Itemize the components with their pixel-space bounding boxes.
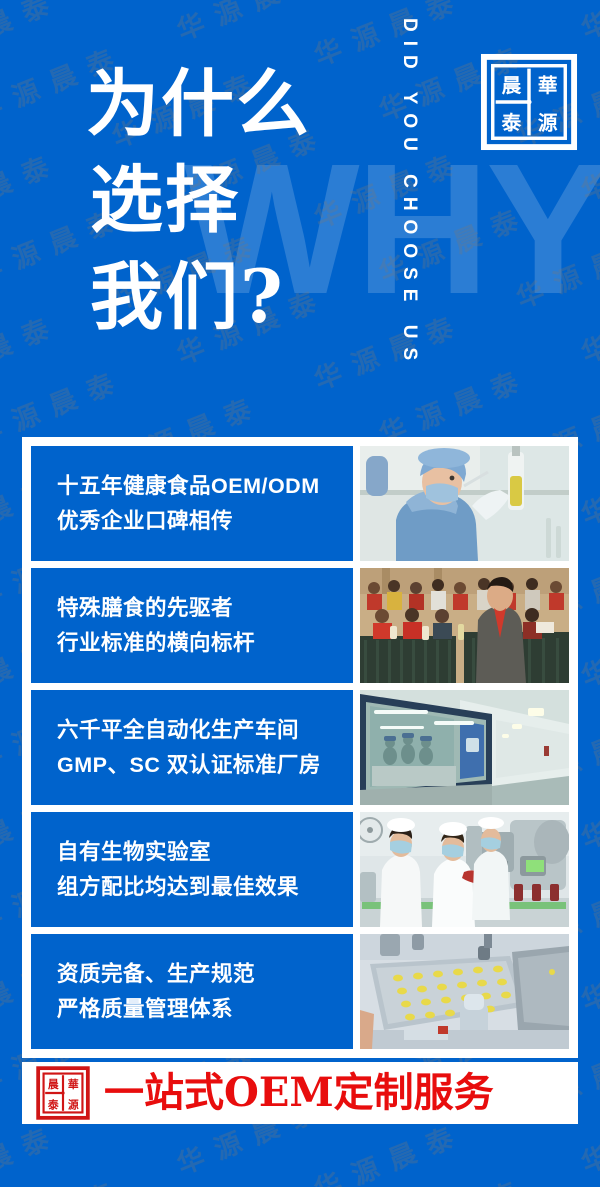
photo-image	[360, 812, 569, 927]
feature-text-card: 六千平全自动化生产车间GMP、SC 双认证标准厂房	[31, 690, 353, 805]
headline-line-3: 我们?	[86, 249, 386, 345]
svg-text:華: 華	[538, 74, 558, 97]
watermark-text: 华源晨泰	[575, 437, 600, 533]
feature-text-line-1: 十五年健康食品OEM/ODM	[57, 469, 353, 504]
svg-text:源: 源	[68, 1098, 79, 1112]
banner-slogan: 一站式OEM定制服务	[104, 1073, 494, 1113]
blister-packing-photo	[360, 934, 569, 1049]
photo-image	[360, 690, 569, 805]
packaging-line-photo	[360, 812, 569, 927]
poster-root: WHY 华源晨泰华源晨泰华源晨泰华源晨泰华源晨泰华源晨泰华源晨泰华源晨泰华源晨泰…	[0, 0, 600, 1187]
watermark-text: 华源晨泰	[575, 923, 600, 1019]
watermark-text: 华源晨泰	[575, 1085, 600, 1181]
watermark-text: 华源晨泰	[575, 761, 600, 857]
svg-text:華: 華	[68, 1077, 79, 1091]
feature-text-line-1: 六千平全自动化生产车间	[57, 713, 353, 748]
company-seal-logo-bottom: 晨 華 泰 源	[36, 1066, 90, 1120]
photo-image	[360, 568, 569, 683]
feature-text-line-2: 行业标准的横向标杆	[57, 626, 353, 661]
features-list: 十五年健康食品OEM/ODM优秀企业口碑相传 特殊膳食的先驱者行业标准的横向标杆	[31, 446, 569, 1049]
vertical-english-text: DID YOU CHOOSE US	[398, 18, 420, 369]
feature-text-card: 自有生物实验室组方配比均达到最佳效果	[31, 812, 353, 927]
photo-image	[360, 446, 569, 561]
cleanroom-corridor-photo	[360, 690, 569, 805]
headline-line-1: 为什么	[86, 56, 386, 152]
poster-header: 为什么 选择 我们? DID YOU CHOOSE US 晨 華 泰 源	[0, 0, 600, 430]
bottom-banner: 晨 華 泰 源 一站式OEM定制服务	[22, 1062, 578, 1124]
feature-text-line-2: 优秀企业口碑相传	[57, 504, 353, 539]
svg-text:泰: 泰	[48, 1098, 59, 1112]
svg-text:晨: 晨	[48, 1078, 59, 1091]
feature-row: 自有生物实验室组方配比均达到最佳效果	[31, 812, 569, 927]
headline-line-2: 选择	[86, 152, 386, 248]
watermark-row: 华源晨泰华源晨泰华源晨泰华源晨泰华源晨泰	[0, 1182, 600, 1187]
feature-text-line-2: GMP、SC 双认证标准厂房	[57, 748, 353, 783]
svg-text:晨: 晨	[502, 74, 522, 97]
feature-row: 六千平全自动化生产车间GMP、SC 双认证标准厂房	[31, 690, 569, 805]
photo-image	[360, 934, 569, 1049]
feature-text-card: 十五年健康食品OEM/ODM优秀企业口碑相传	[31, 446, 353, 561]
feature-text-line-1: 特殊膳食的先驱者	[57, 591, 353, 626]
company-seal-logo-top: 晨 華 泰 源	[480, 52, 578, 152]
watermark-text: 华源晨泰	[372, 1166, 535, 1187]
feature-text-line-2: 严格质量管理体系	[57, 992, 353, 1027]
feature-text-card: 特殊膳食的先驱者行业标准的横向标杆	[31, 568, 353, 683]
watermark-text: 华源晨泰	[575, 599, 600, 695]
feature-text-card: 资质完备、生产规范严格质量管理体系	[31, 934, 353, 1049]
feature-text-line-1: 资质完备、生产规范	[57, 957, 353, 992]
svg-text:源: 源	[538, 111, 558, 134]
feature-text-line-2: 组方配比均达到最佳效果	[57, 870, 353, 905]
feature-row: 资质完备、生产规范严格质量管理体系	[31, 934, 569, 1049]
features-frame: 十五年健康食品OEM/ODM优秀企业口碑相传 特殊膳食的先驱者行业标准的横向标杆	[22, 437, 578, 1058]
conference-audience-photo	[360, 568, 569, 683]
svg-text:泰: 泰	[501, 111, 522, 134]
feature-row: 十五年健康食品OEM/ODM优秀企业口碑相传	[31, 446, 569, 561]
lab-technician-photo	[360, 446, 569, 561]
watermark-text: 华源晨泰	[0, 1168, 131, 1187]
feature-text-line-1: 自有生物实验室	[57, 835, 353, 870]
feature-row: 特殊膳食的先驱者行业标准的横向标杆	[31, 568, 569, 683]
page-title: 为什么 选择 我们?	[86, 56, 386, 345]
